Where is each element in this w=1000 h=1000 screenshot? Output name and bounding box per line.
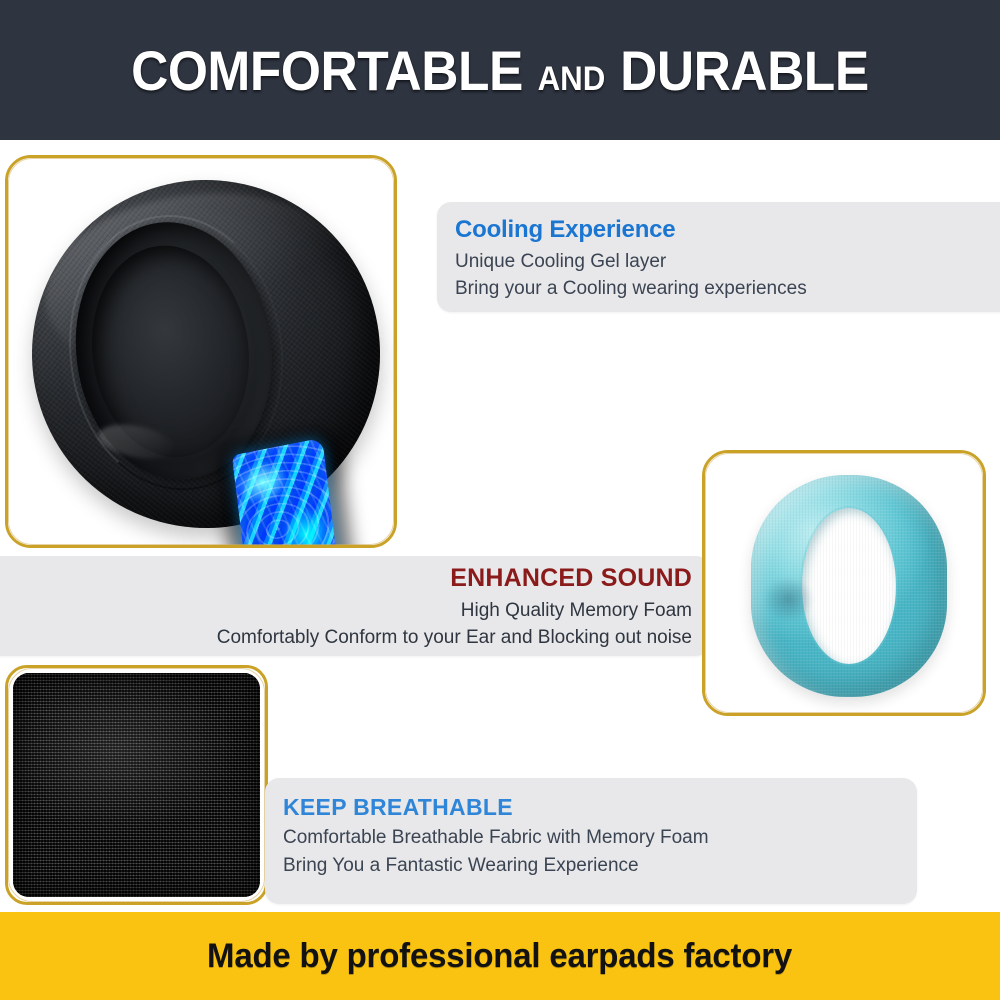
title-part-one: COMFORTABLE (131, 38, 523, 103)
memory-foam-ring (751, 475, 947, 697)
earpad-photo (8, 158, 394, 545)
page-title: COMFORTABLE AND DURABLE (131, 38, 869, 103)
keep-breathable-heading: KEEP BREATHABLE (283, 794, 917, 820)
fabric-swatch-photo (13, 673, 260, 897)
keep-breathable-panel: KEEP BREATHABLE Comfortable Breathable F… (265, 778, 917, 904)
gel-swirl-pattern (232, 438, 341, 548)
earpad-photo-frame (5, 155, 397, 548)
foam-ring-photo-frame (702, 450, 986, 716)
enhanced-sound-heading: ENHANCED SOUND (0, 564, 692, 593)
enhanced-sound-line-2: Comfortably Conform to your Ear and Bloc… (0, 624, 692, 652)
cooling-line-1: Unique Cooling Gel layer (455, 248, 1000, 276)
header-banner: COMFORTABLE AND DURABLE (0, 0, 1000, 140)
cooling-gel-insert (232, 438, 341, 548)
cooling-heading: Cooling Experience (455, 216, 1000, 244)
keep-breathable-line-2: Bring You a Fantastic Wearing Experience (283, 852, 917, 880)
enhanced-sound-panel: ENHANCED SOUND High Quality Memory Foam … (0, 556, 710, 656)
foam-shading (763, 577, 814, 621)
cooling-experience-panel: Cooling Experience Unique Cooling Gel la… (437, 202, 1000, 312)
fabric-swatch-photo-frame (5, 665, 268, 905)
cooling-line-2: Bring your a Cooling wearing experiences (455, 275, 1000, 303)
footer-banner: Made by professional earpads factory (0, 912, 1000, 1000)
title-part-two: DURABLE (620, 38, 869, 103)
title-conjunction: AND (538, 60, 606, 99)
foam-ring-photo (705, 453, 983, 713)
keep-breathable-line-1: Comfortable Breathable Fabric with Memor… (283, 824, 917, 852)
fabric-sheen (13, 673, 260, 897)
product-feature-graphic: COMFORTABLE AND DURABLE Cooling Experien (0, 0, 1000, 1000)
enhanced-sound-line-1: High Quality Memory Foam (0, 597, 692, 625)
footer-tagline: Made by professional earpads factory (207, 937, 792, 976)
